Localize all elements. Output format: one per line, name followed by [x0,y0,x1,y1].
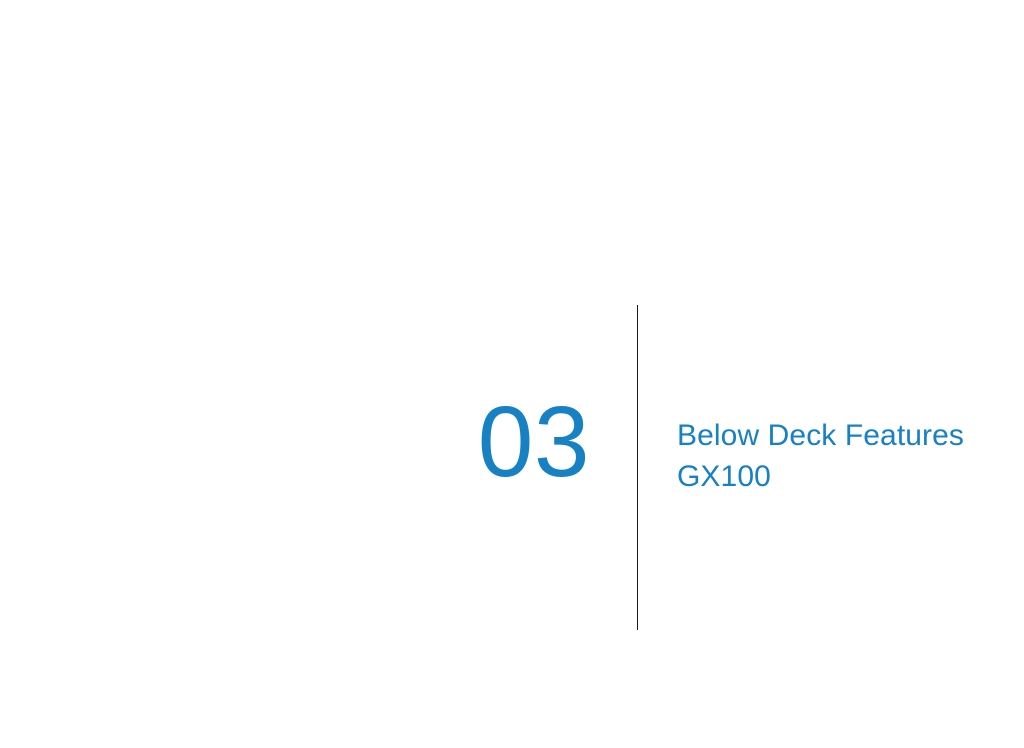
section-title-line-1: Below Deck Features [677,415,1017,456]
section-divider-slide: 03 Below Deck Features GX100 [0,0,1024,748]
vertical-divider-rule [637,305,638,630]
section-title: Below Deck Features GX100 [677,415,1017,497]
section-number: 03 [0,392,590,492]
section-title-line-2: GX100 [677,456,1017,497]
